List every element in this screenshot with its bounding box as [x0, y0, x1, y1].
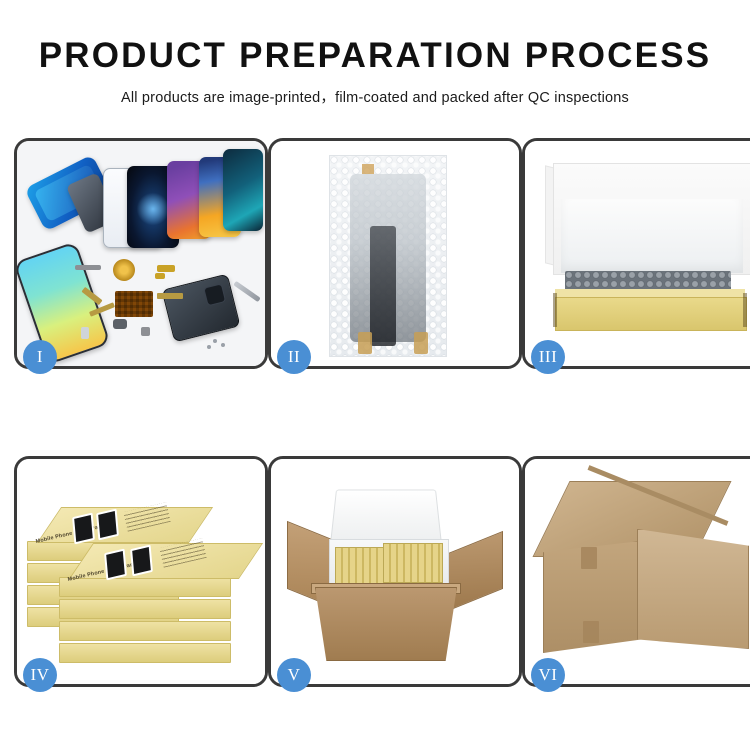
screw-part: [207, 345, 211, 349]
stacked-box: [59, 577, 231, 597]
step-badge-5: V: [277, 658, 311, 692]
step-badge-6: VI: [531, 658, 565, 692]
phone-teal: [223, 149, 263, 231]
tape-strip: [358, 332, 372, 354]
step-panel-1: I: [14, 138, 268, 369]
carton-body: [315, 587, 457, 661]
box-front-panel: [555, 297, 747, 331]
step-image-4: Mobile Phone Spare Parts Mobile Phone Sp…: [17, 459, 265, 684]
bubble-wrap-bag: [329, 155, 447, 357]
flex-cable-part: [157, 293, 183, 299]
page-title: PRODUCT PREPARATION PROCESS: [0, 38, 750, 75]
chip-part: [141, 327, 150, 336]
box-corner-right: [743, 293, 747, 327]
stacked-box: [59, 621, 231, 641]
carton-tape-patch: [583, 621, 599, 643]
foam-sheet: [561, 199, 743, 273]
logic-board-part: [115, 291, 153, 317]
stacked-box: [59, 599, 231, 619]
screen-flex-cable: [370, 226, 396, 346]
tweezers-tool: [233, 281, 260, 302]
screw-part: [213, 339, 217, 343]
tape-strip: [414, 332, 428, 354]
chip-part: [81, 327, 89, 339]
product-preparation-infographic: PRODUCT PREPARATION PROCESS All products…: [0, 0, 750, 750]
step-panel-3: III: [522, 138, 750, 369]
phone-back-cover: [161, 274, 240, 343]
step-badge-4: IV: [23, 658, 57, 692]
step-image-1: [17, 141, 265, 366]
step-badge-1: I: [23, 340, 57, 374]
lid-window-screen: [130, 545, 153, 577]
step-panel-2: II: [268, 138, 522, 369]
step-image-3: [525, 141, 750, 366]
stacked-box: [59, 643, 231, 663]
step-panel-5: V: [268, 456, 522, 687]
lid-window-screen: [96, 509, 119, 541]
gold-connector-part: [157, 265, 175, 272]
page-subtitle: All products are image-printed，film-coat…: [0, 86, 750, 107]
step-badge-2: II: [277, 340, 311, 374]
vibration-motor-part: [113, 319, 127, 329]
speaker-coil-part: [113, 259, 135, 281]
box-corner-left: [553, 293, 557, 327]
lid-window-screen: [104, 549, 127, 581]
step-image-5: [271, 459, 519, 684]
chip-part: [75, 265, 101, 270]
step-image-2: [271, 141, 519, 366]
step-image-6: [525, 459, 750, 684]
camera-module-icon: [203, 283, 226, 306]
process-step-grid: I II: [14, 138, 736, 687]
carton-right-face: [637, 529, 749, 649]
packed-yellow-boxes: [383, 543, 443, 583]
step-badge-3: III: [531, 340, 565, 374]
step-panel-6: VI: [522, 456, 750, 687]
gold-connector-part: [155, 273, 165, 279]
tape-strip: [362, 164, 374, 174]
step-panel-4: Mobile Phone Spare Parts Mobile Phone Sp…: [14, 456, 268, 687]
lid-window-screen: [72, 513, 95, 545]
screw-part: [221, 343, 225, 347]
box-stack: Mobile Phone Spare Parts Mobile Phone Sp…: [25, 485, 257, 667]
carton-tape-patch: [581, 547, 597, 569]
header: PRODUCT PREPARATION PROCESS All products…: [0, 0, 750, 107]
